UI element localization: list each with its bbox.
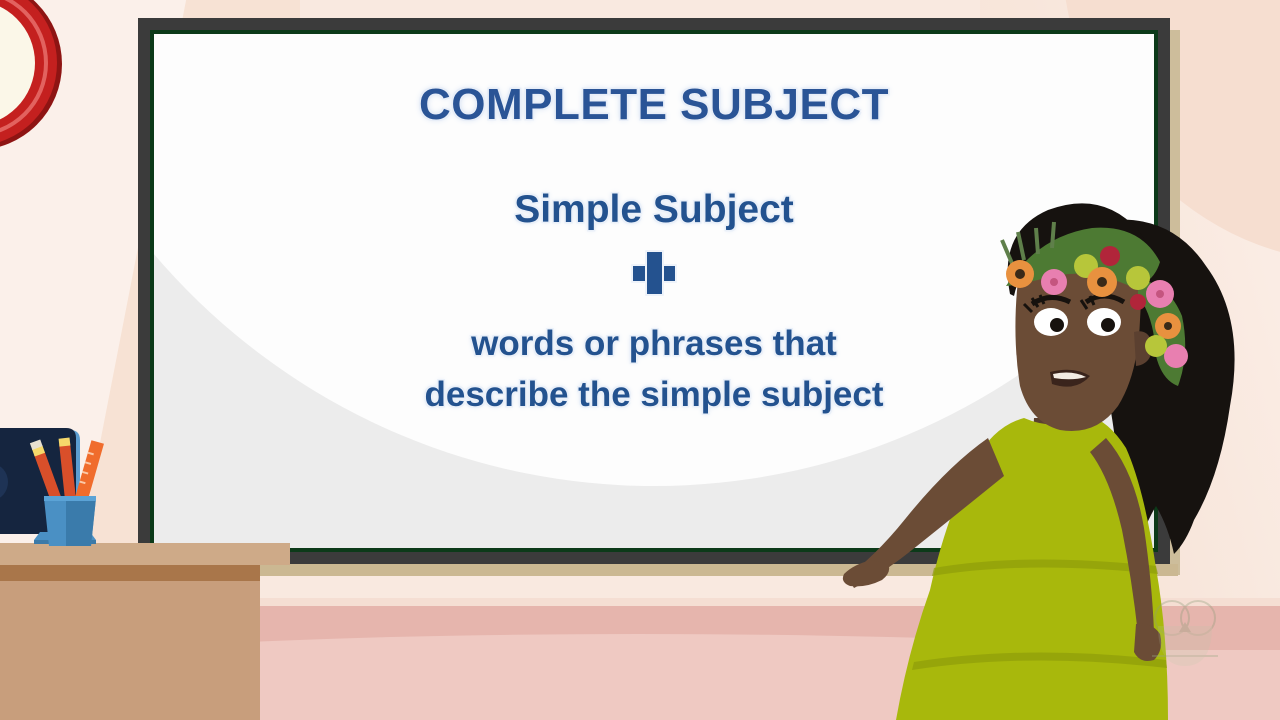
plus-sign-icon [631, 250, 677, 296]
plus-vertical-bar [645, 250, 664, 296]
slide-body-line-1: words or phrases that [424, 318, 883, 369]
desk-edge-band [0, 565, 260, 581]
classroom-slide-scene: 1 2 3 4 5 COMPLETE SUBJECT Simple Subjec… [0, 0, 1280, 720]
pencil-cup-icon [28, 436, 110, 546]
slide-body-line-2: describe the simple subject [424, 369, 883, 420]
slide-title: COMPLETE SUBJECT [419, 80, 889, 130]
left-hand [843, 560, 889, 586]
slide-body-text: words or phrases that describe the simpl… [424, 318, 883, 420]
owl-logo-watermark [1148, 592, 1222, 672]
slide-subtitle: Simple Subject [514, 188, 794, 232]
desk-front-panel [0, 581, 260, 720]
wall-clock-icon: 1 2 3 4 5 [0, 0, 70, 166]
